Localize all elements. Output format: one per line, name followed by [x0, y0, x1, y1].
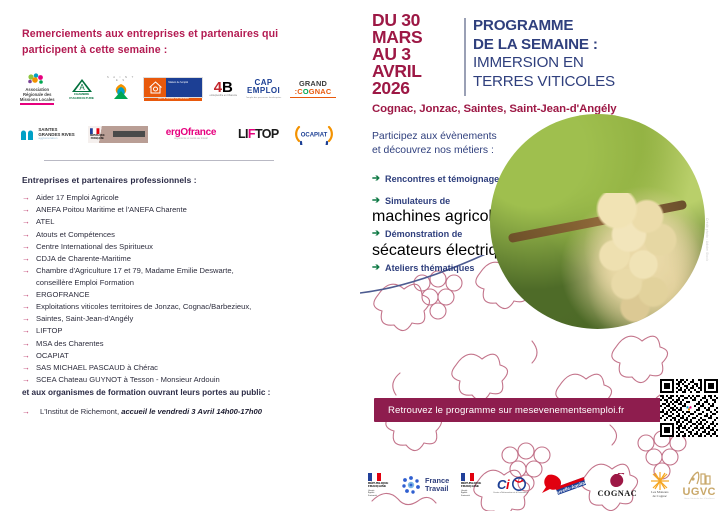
logo-liftop-label: LIFTOP: [238, 128, 279, 141]
left-panel: Remerciements aux entreprises et partena…: [0, 0, 360, 511]
region-icon: Nouvelle-Aquitaine: [540, 473, 586, 497]
footer-logo-region-nouvelle-aquitaine: Nouvelle-Aquitaine: [540, 473, 586, 497]
partners-list: →Aider 17 Emploi Agricole →ANEFA Poitou …: [22, 192, 342, 386]
cio-icon: C i: [495, 476, 527, 492]
arrow-icon: →: [22, 192, 36, 204]
arrow-icon: →: [22, 313, 36, 325]
programme-line-2: DE LA SEMAINE :: [473, 36, 673, 55]
svg-text:A: A: [79, 83, 85, 92]
programme-line-4: TERRES VITICOLES: [473, 73, 673, 92]
french-flag-icon: [368, 473, 381, 481]
arrow-icon: →: [22, 216, 36, 228]
list-item: →SCEA Chateau GUYNOT à Tesson - Monsieur…: [22, 374, 342, 386]
footer-logo-france-travail: FranceTravail: [400, 474, 449, 496]
formation-schedule: accueil le vendredi 3 Avril 14h00-17h00: [121, 407, 262, 416]
cta-label: Retrouvez le programme sur mesevenements…: [374, 405, 624, 416]
logo-ca-label: CHAMBRE D'AGRICULTURE: [64, 93, 98, 100]
logo-chambre-agriculture: A CHAMBRE D'AGRICULTURE: [64, 78, 98, 100]
list-item: →Centre International des Spiritueux: [22, 241, 342, 253]
partner-name: SAS MICHAEL PASCAUD à Chérac: [36, 362, 158, 374]
saintes-icon: [110, 83, 132, 101]
header-divider: [464, 18, 466, 96]
french-flag-icon: [461, 473, 474, 481]
logo-sgr-sub: agglomération: [38, 137, 74, 140]
logo-arml-bar: [20, 103, 54, 105]
partner-name: Centre International des Spiritueux: [36, 241, 153, 253]
grapes-photo: [490, 114, 705, 329]
arrow-icon: →: [22, 265, 36, 277]
logo-4b: 4 B entreprendre en Charente: [209, 80, 237, 98]
list-item: →Saintes, Saint-Jean-d'Angély: [22, 313, 342, 325]
list-item: →Aider 17 Emploi Agricole: [22, 192, 342, 204]
ugvc-icon: [686, 470, 712, 486]
event-label: Ateliers thématiques: [385, 261, 474, 276]
arrow-icon: →: [22, 241, 36, 253]
svg-text:i: i: [506, 477, 510, 492]
footer-logos: RÉPUBLIQUEFRANÇAISE LibertéÉgalitéFrater…: [368, 464, 716, 506]
house-icon: [149, 81, 162, 94]
programme-title: PROGRAMME DE LA SEMAINE : IMMERSION EN T…: [473, 17, 673, 91]
list-item: →CDJA de Charente-Maritime: [22, 253, 342, 265]
logo-ergofrance: ergOfrance ergonomie et santé au travail: [158, 127, 224, 141]
logo-4b-4: 4: [214, 80, 222, 95]
partner-name: CDJA de Charente-Maritime: [36, 253, 131, 265]
logo-grand-cognac-l2: :COGNAC: [295, 88, 332, 96]
cognac-label: COGNAC: [597, 489, 637, 498]
chambre-agriculture-icon: A: [70, 78, 94, 93]
logo-mde-label: Maison de l'emploi: [166, 78, 202, 97]
cta-banner[interactable]: Retrouvez le programme sur mesevenements…: [374, 398, 674, 422]
partner-name-continued: conseillère Emploi Formation: [36, 277, 342, 289]
footer-logo-maisons-de-cognac: Les Maisonsde Cognac: [649, 472, 671, 498]
arrow-icon: →: [22, 229, 36, 241]
logo-arml-label: Association Régionale des Missions Local…: [16, 87, 58, 102]
arrow-icon: ➔: [372, 227, 385, 242]
partner-name: ATEL: [36, 216, 54, 228]
formation-section-title: et aux organismes de formation ouvrant l…: [22, 388, 352, 397]
logo-4b-sub: entreprendre en Charente: [210, 95, 238, 98]
arrow-icon: →: [22, 301, 36, 313]
partner-name: Saintes, Saint-Jean-d'Angély: [36, 313, 133, 325]
logo-prefecture-band: [113, 131, 145, 137]
grape-cluster: [581, 193, 701, 323]
ugvc-label: UGVC: [683, 486, 716, 498]
footer-logo-republique-francaise-2: RÉPUBLIQUEFRANÇAISE LibertéÉgalitéFrater…: [461, 473, 481, 498]
arrow-icon: →: [22, 362, 36, 374]
france-travail-icon: [400, 474, 422, 496]
arrow-icon: →: [22, 350, 36, 362]
france-travail-label: FranceTravail: [425, 477, 449, 493]
partner-name: SCEA Chateau GUYNOT à Tesson - Monsieur …: [36, 374, 220, 386]
partner-logos-row-2: SAINTES GRANDES RIVES agglomération RÉPU…: [16, 114, 336, 154]
section-divider: [44, 160, 274, 161]
cio-sub: Centre d'Information et d'Orientation: [493, 492, 528, 494]
list-item: →ANEFA Poitou Maritime et l'ANEFA Charen…: [22, 204, 342, 216]
partner-name: Exploitations viticoles territoires de J…: [36, 301, 251, 313]
partner-name: LIFTOP: [36, 325, 62, 337]
rf-devise-1: LibertéÉgalitéFraternité: [368, 490, 377, 498]
list-item: →OCAPIAT: [22, 350, 342, 362]
rf-devise-2: LibertéÉgalitéFraternité: [461, 490, 470, 498]
event-label: Rencontres et témoignages: [385, 172, 504, 187]
partner-logos-row-1: Association Régionale des Missions Local…: [16, 68, 336, 110]
starburst-icon: [649, 472, 671, 490]
arrow-icon: →: [22, 253, 36, 265]
footer-logo-cognac: COGNAC: [597, 473, 637, 498]
logo-grand-cognac-bar: [290, 97, 336, 98]
logo-prefecture-l1: RÉPUBLIQUEFRANÇAISE: [90, 135, 105, 140]
ugvc-sub: Union Générale des Viticulteurs: [684, 498, 715, 500]
logo-cap-emploi: CAPEMPLOI l'emploi des personnes handica…: [243, 79, 284, 100]
cities-line: Cognac, Jonzac, Saintes, Saint-Jean-d'An…: [372, 103, 672, 115]
list-item: →Exploitations viticoles territoires de …: [22, 301, 342, 313]
formation-text: L'Institut de Richemont, accueil le vend…: [40, 406, 262, 418]
list-item: →SAS MICHAEL PASCAUD à Chérac: [22, 362, 342, 374]
partner-name: Aider 17 Emploi Agricole: [36, 192, 119, 204]
maisons-label: Les Maisonsde Cognac: [651, 490, 668, 498]
arrow-icon: ➔: [372, 261, 385, 276]
arrow-icon: ➔: [372, 172, 385, 187]
arrow-icon: →: [22, 325, 36, 337]
programme-line-3: IMMERSION EN: [473, 54, 673, 73]
arml-icon: [26, 73, 48, 86]
logo-ocapiat: OCAPIAT: [293, 123, 336, 145]
event-label: Simulateurs de: [385, 194, 450, 209]
logo-4b-b: B: [222, 80, 233, 95]
logo-prefecture: RÉPUBLIQUEFRANÇAISE: [88, 126, 148, 143]
footer-logo-cio: C i Centre d'Information et d'Orientatio…: [493, 476, 528, 494]
logo-saintes-grandes-rives: SAINTES GRANDES RIVES agglomération: [16, 127, 78, 140]
partner-name: OCAPIAT: [36, 350, 69, 362]
list-item: →MSA des Charentes: [22, 338, 342, 350]
logo-ergofrance-sub: ergonomie et santé au travail: [174, 138, 207, 141]
list-item: →Chambre d'Agriculture 17 et 79, Madame …: [22, 265, 342, 277]
partner-name: Chambre d'Agriculture 17 et 79, Madame E…: [36, 265, 234, 277]
list-item: →Atouts et Compétences: [22, 229, 342, 241]
logo-cap-emploi-sub: l'emploi des personnes handicapées: [246, 97, 281, 100]
ocapiat-icon: OCAPIAT: [293, 123, 335, 145]
svg-text:OCAPIAT: OCAPIAT: [301, 133, 328, 139]
partner-name: Atouts et Compétences: [36, 229, 115, 241]
arrow-icon: →: [22, 374, 36, 386]
photo-credit: Crédit photo : Adobe Stock: [705, 218, 709, 261]
partner-name: ERGOFRANCE: [36, 289, 90, 301]
arrow-icon: →: [22, 204, 36, 216]
rf-label-1: RÉPUBLIQUEFRANÇAISE: [368, 482, 388, 489]
arrow-icon: →: [22, 406, 40, 418]
event-dates: DU 30MARSAU 3AVRIL2026: [372, 12, 460, 97]
programme-line-1: PROGRAMME: [473, 17, 673, 36]
thanks-title: Remerciements aux entreprises et partena…: [22, 27, 312, 59]
event-label: Démonstration de: [385, 227, 462, 242]
cognac-grape-icon: [606, 473, 628, 489]
logo-grand-cognac: GRAND :COGNAC: [290, 80, 336, 98]
partner-name: MSA des Charentes: [36, 338, 104, 350]
list-item: →LIFTOP: [22, 325, 342, 337]
list-item: →ATEL: [22, 216, 342, 228]
list-item: →ERGOFRANCE: [22, 289, 342, 301]
logo-cap-emploi-label: CAPEMPLOI: [247, 79, 280, 96]
partner-name: ANEFA Poitou Maritime et l'ANEFA Charent…: [36, 204, 187, 216]
arrow-icon: →: [22, 338, 36, 350]
logo-maison-emploi: Maison de l'emploi pour la réussite d'un…: [143, 77, 203, 101]
rf-label-2: RÉPUBLIQUEFRANÇAISE: [461, 482, 481, 489]
logo-mde-tagline: pour la réussite d'un territoire: [144, 98, 202, 101]
right-panel: DU 30MARSAU 3AVRIL2026 PROGRAMME DE LA S…: [360, 0, 720, 511]
logo-liftop: LIFTOP: [234, 128, 283, 141]
qr-code-image: [660, 379, 718, 437]
arrow-icon: →: [22, 289, 36, 301]
grandes-rives-icon: [19, 128, 35, 141]
partners-section-title: Entreprises et partenaires professionnel…: [22, 175, 197, 185]
flyer-page: Remerciements aux entreprises et partena…: [0, 0, 720, 511]
arrow-icon: ➔: [372, 194, 385, 209]
formation-prefix: L'Institut de Richemont,: [40, 407, 121, 416]
logo-saintes: S A I N T E S: [105, 77, 138, 101]
footer-logo-republique-francaise-1: RÉPUBLIQUEFRANÇAISE LibertéÉgalitéFrater…: [368, 473, 388, 498]
logo-arml: Association Régionale des Missions Local…: [16, 73, 58, 105]
footer-logo-ugvc: UGVC Union Générale des Viticulteurs: [683, 470, 716, 500]
formation-list-item: → L'Institut de Richemont, accueil le ve…: [22, 406, 352, 418]
qr-code[interactable]: [660, 379, 718, 437]
